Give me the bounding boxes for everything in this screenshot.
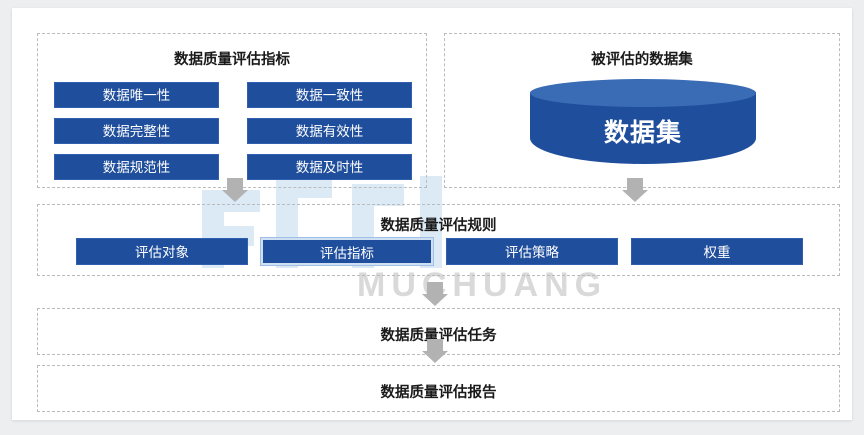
metric-button-data-uniqueness[interactable]: 数据唯一性 [54,82,219,108]
dataset-panel-title: 被评估的数据集 [445,48,839,69]
rules-row: 评估对象 评估指标 评估策略 权重 [76,238,803,265]
metric-button-data-consistency[interactable]: 数据一致性 [247,82,412,108]
rule-button-evaluation-metric[interactable]: 评估指标 [261,238,433,265]
database-cylinder-icon: 数据集 [530,79,756,172]
rule-button-weight[interactable]: 权重 [631,238,803,265]
metrics-grid: 数据唯一性 数据一致性 数据完整性 数据有效性 数据规范性 数据及时性 [54,82,412,180]
metric-button-data-normativity[interactable]: 数据规范性 [54,154,219,180]
report-panel: 数据质量评估报告 [37,365,840,412]
cylinder-top-ellipse [530,79,756,107]
rule-button-evaluation-object[interactable]: 评估对象 [76,238,248,265]
rules-panel-title: 数据质量评估规则 [38,214,839,235]
metric-button-data-validity[interactable]: 数据有效性 [247,118,412,144]
cylinder-label: 数据集 [530,113,756,149]
dataset-panel: 被评估的数据集 数据集 [444,33,840,188]
rules-panel: 数据质量评估规则 评估对象 评估指标 评估策略 权重 [37,204,840,276]
report-panel-title: 数据质量评估报告 [38,381,839,402]
diagram-card: MUCHUANG 数据质量评估指标 数据唯一性 数据一致性 数据完整性 数据有效… [12,8,852,420]
rule-button-evaluation-strategy[interactable]: 评估策略 [446,238,618,265]
metrics-panel-title: 数据质量评估指标 [38,48,426,69]
metric-button-data-completeness[interactable]: 数据完整性 [54,118,219,144]
metrics-panel: 数据质量评估指标 数据唯一性 数据一致性 数据完整性 数据有效性 数据规范性 数… [37,33,427,188]
screenshot-canvas: MUCHUANG 数据质量评估指标 数据唯一性 数据一致性 数据完整性 数据有效… [0,0,864,435]
metric-button-data-timeliness[interactable]: 数据及时性 [247,154,412,180]
